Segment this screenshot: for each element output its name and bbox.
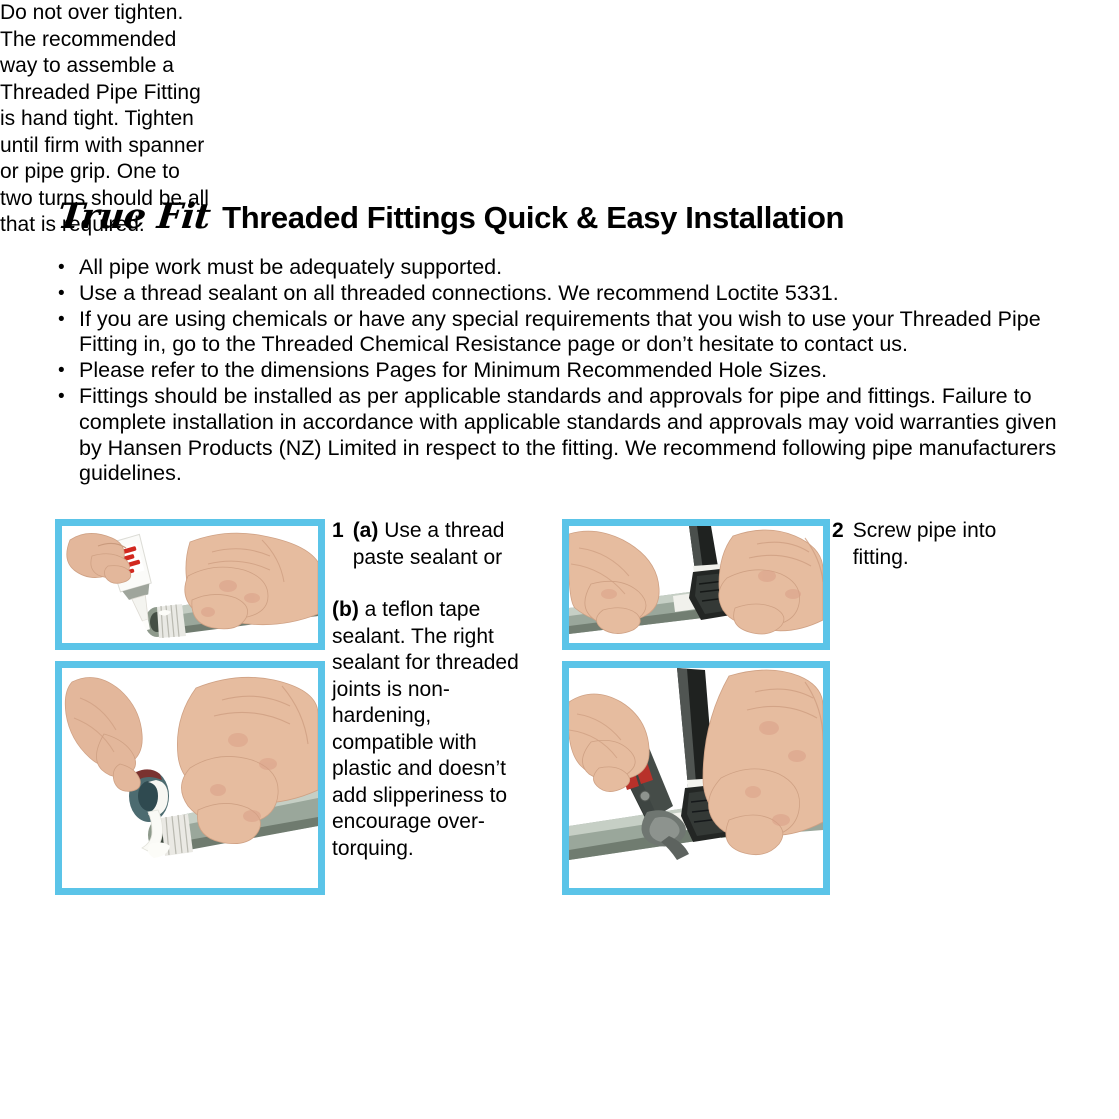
list-item-text: Use a thread sealant on all threaded con… [79, 281, 1073, 307]
list-item: • All pipe work must be adequately suppo… [58, 255, 1073, 281]
list-item-text: All pipe work must be adequately support… [79, 255, 1073, 281]
list-item: • Use a thread sealant on all threaded c… [58, 281, 1073, 307]
photo-1b-illustration [62, 668, 318, 888]
list-item-text: If you are using chemicals or have any s… [79, 307, 1073, 359]
list-item-text: Fittings should be installed as per appl… [79, 384, 1073, 487]
photo-2a-illustration [569, 526, 823, 643]
step-2-heading: 2 Screw pipe into fitting. [832, 518, 1047, 571]
bullet-icon: • [58, 281, 79, 307]
step-1-number: 1 [332, 518, 344, 545]
step-1b-row: (b) a teflon tape sealant. The right sea… [332, 597, 537, 862]
step-1a-text: (a) Use a thread paste sealant or [353, 518, 537, 571]
bullet-icon: • [58, 307, 79, 333]
photo-panel-paste-sealant [55, 519, 325, 650]
step-1a-label: (a) [353, 519, 379, 542]
photo-panel-screw-fitting [562, 519, 830, 650]
step-1b-label: (b) [332, 598, 359, 621]
list-item: • If you are using chemicals or have any… [58, 307, 1073, 359]
bullet-icon: • [58, 255, 79, 281]
step-1-text-block: 1 (a) Use a thread paste sealant or (b) … [332, 518, 537, 862]
document-page: True Fit Threaded Fittings Quick & Easy … [0, 0, 1119, 1119]
list-item: • Please refer to the dimensions Pages f… [58, 358, 1073, 384]
photo-1a-illustration [62, 526, 318, 643]
page-title: True Fit Threaded Fittings Quick & Easy … [58, 199, 844, 241]
photo-panel-pipe-grip [562, 661, 830, 895]
bullet-icon: • [58, 384, 79, 410]
photo-2b-illustration [569, 668, 823, 888]
step-2-number: 2 [832, 518, 844, 545]
step-1-heading: 1 (a) Use a thread paste sealant or [332, 518, 537, 571]
step-1b-body: a teflon tape sealant. The right sealant… [332, 598, 519, 860]
list-item-text: Please refer to the dimensions Pages for… [79, 358, 1073, 384]
list-item: • Fittings should be installed as per ap… [58, 384, 1073, 487]
step-2-body: Screw pipe into fitting. [853, 518, 1047, 571]
bullet-icon: • [58, 358, 79, 384]
intro-bullet-list: • All pipe work must be adequately suppo… [58, 255, 1073, 487]
photo-panel-teflon-tape [55, 661, 325, 895]
step-1b-text: (b) a teflon tape sealant. The right sea… [332, 597, 537, 862]
title-text: Threaded Fittings Quick & Easy Installat… [222, 202, 844, 233]
brand-logo: True Fit [56, 199, 212, 234]
step-2-text-block: 2 Screw pipe into fitting. [832, 518, 1047, 571]
paragraph-spacer [332, 571, 537, 597]
